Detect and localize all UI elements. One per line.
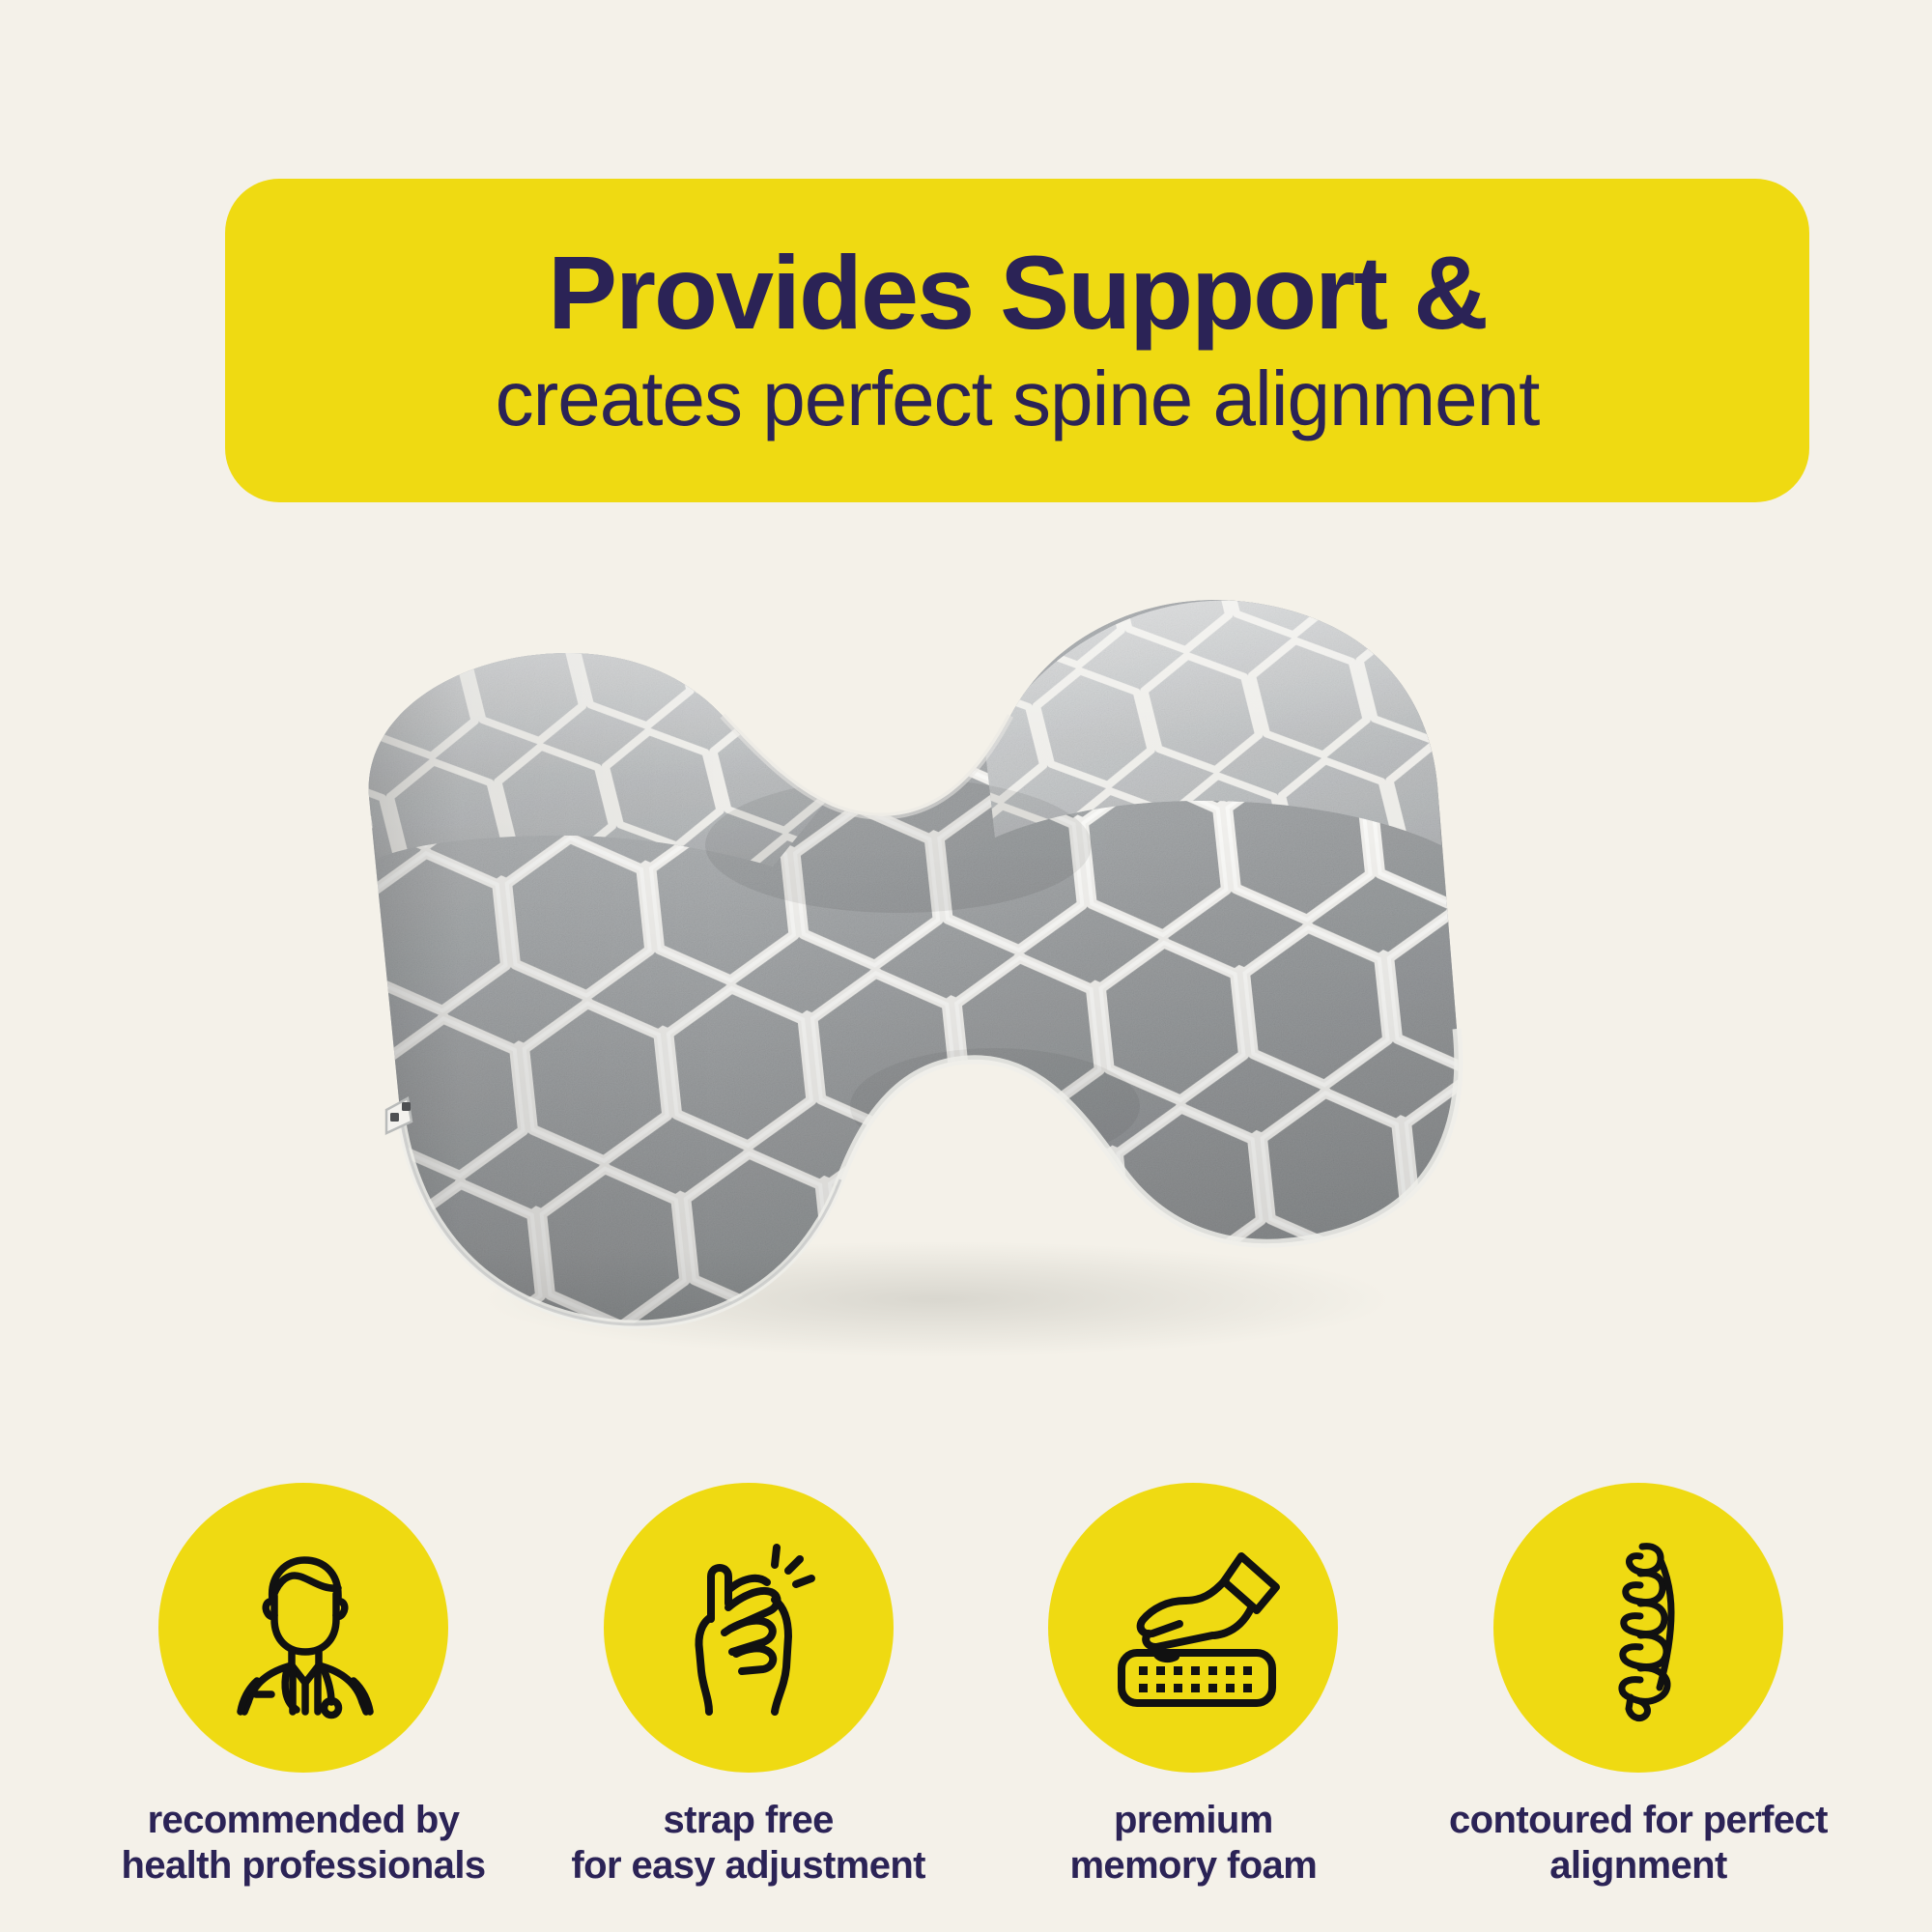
doctor-icon: [212, 1536, 395, 1719]
knee-pillow-illustration: [319, 526, 1604, 1435]
hand-pressing-foam-icon: [1096, 1541, 1290, 1715]
feature-icon-circle: [1048, 1483, 1338, 1773]
feature-label: premium memory foam: [1069, 1798, 1317, 1889]
feature-label: recommended by health professionals: [122, 1798, 486, 1889]
feature-label: strap free for easy adjustment: [571, 1798, 925, 1889]
feature-item-recommended: recommended by health professionals: [100, 1483, 506, 1889]
feature-item-memory-foam: premium memory foam: [990, 1483, 1396, 1889]
marketing-image-canvas: Provides Support & creates perfect spine…: [0, 0, 1932, 1932]
feature-icon-circle: [1493, 1483, 1783, 1773]
banner-subtitle: creates perfect spine alignment: [496, 355, 1540, 442]
snapping-fingers-icon: [667, 1536, 831, 1719]
spine-icon: [1571, 1531, 1706, 1724]
feature-icon-circle: [158, 1483, 448, 1773]
feature-icon-circle: [604, 1483, 894, 1773]
headline-banner: Provides Support & creates perfect spine…: [225, 179, 1809, 502]
product-image: [319, 526, 1604, 1435]
feature-list: recommended by health professionals: [106, 1483, 1835, 1898]
banner-title: Provides Support &: [548, 240, 1487, 346]
feature-item-alignment: contoured for perfect alignment: [1435, 1483, 1841, 1889]
feature-label: contoured for perfect alignment: [1449, 1798, 1828, 1889]
feature-item-strap-free: strap free for easy adjustment: [546, 1483, 952, 1889]
